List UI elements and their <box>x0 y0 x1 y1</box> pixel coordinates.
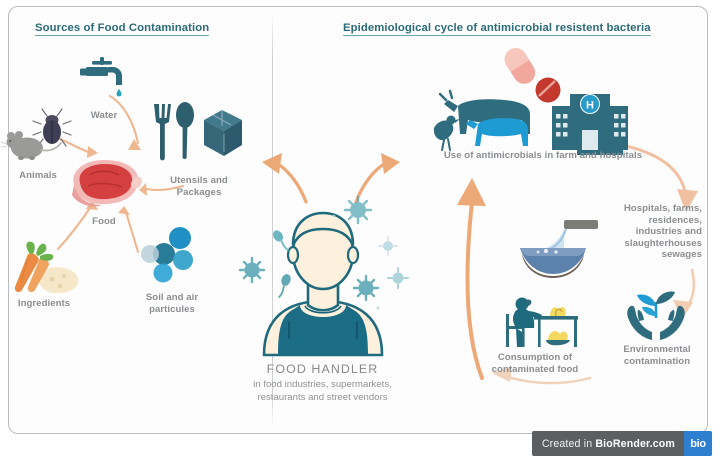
fork-spoon-box-icon <box>148 100 244 172</box>
label-soil-and-air-particules: Soil and air particules <box>118 292 226 315</box>
label-consumption-of-contaminated-food: Consumption of contaminated food <box>468 352 602 375</box>
svg-text:H: H <box>586 100 594 112</box>
cycle-arrows <box>430 140 720 420</box>
right-panel-title: Epidemiological cycle of antimicrobial r… <box>343 22 651 34</box>
faucet-icon <box>78 55 130 105</box>
label-environmental-contamination: Environmental contamination <box>602 344 712 367</box>
food-handler-title: FOOD HANDLER <box>230 362 415 376</box>
hands-holding-plant-icon <box>625 288 687 344</box>
microbes-icon <box>238 198 418 328</box>
label-sewages: Hospitals, farms, residences, industries… <box>560 203 702 261</box>
biorender-logo-icon: bio <box>684 431 712 456</box>
label-ingredients: Ingredients <box>0 298 88 310</box>
carrot-and-cheese-icon <box>8 238 88 300</box>
watermark-brand: BioRender.com <box>595 438 675 450</box>
label-food: Food <box>66 216 142 228</box>
watermark-text: Created in BioRender.com <box>542 438 675 450</box>
particles-icon <box>136 228 208 290</box>
cow-hospital-pills-icon: H <box>432 62 642 158</box>
biorender-watermark[interactable]: Created in BioRender.com bio <box>532 431 712 456</box>
label-utensils-packages: Utensils and Packages <box>151 175 247 198</box>
label-use-of-antimicrobials: Use of antimicrobials in farm and hospit… <box>418 150 668 162</box>
watermark-prefix: Created in <box>542 438 595 450</box>
infographic-figure: Sources of Food Contamination Epidemiolo… <box>0 0 720 468</box>
person-eating-icon <box>500 292 580 350</box>
right-panel-title-text: Epidemiological cycle of antimicrobial r… <box>343 22 651 36</box>
food-handler-subtitle: in food industries, supermarkets, restau… <box>205 379 440 404</box>
raw-steak-icon <box>64 155 146 213</box>
